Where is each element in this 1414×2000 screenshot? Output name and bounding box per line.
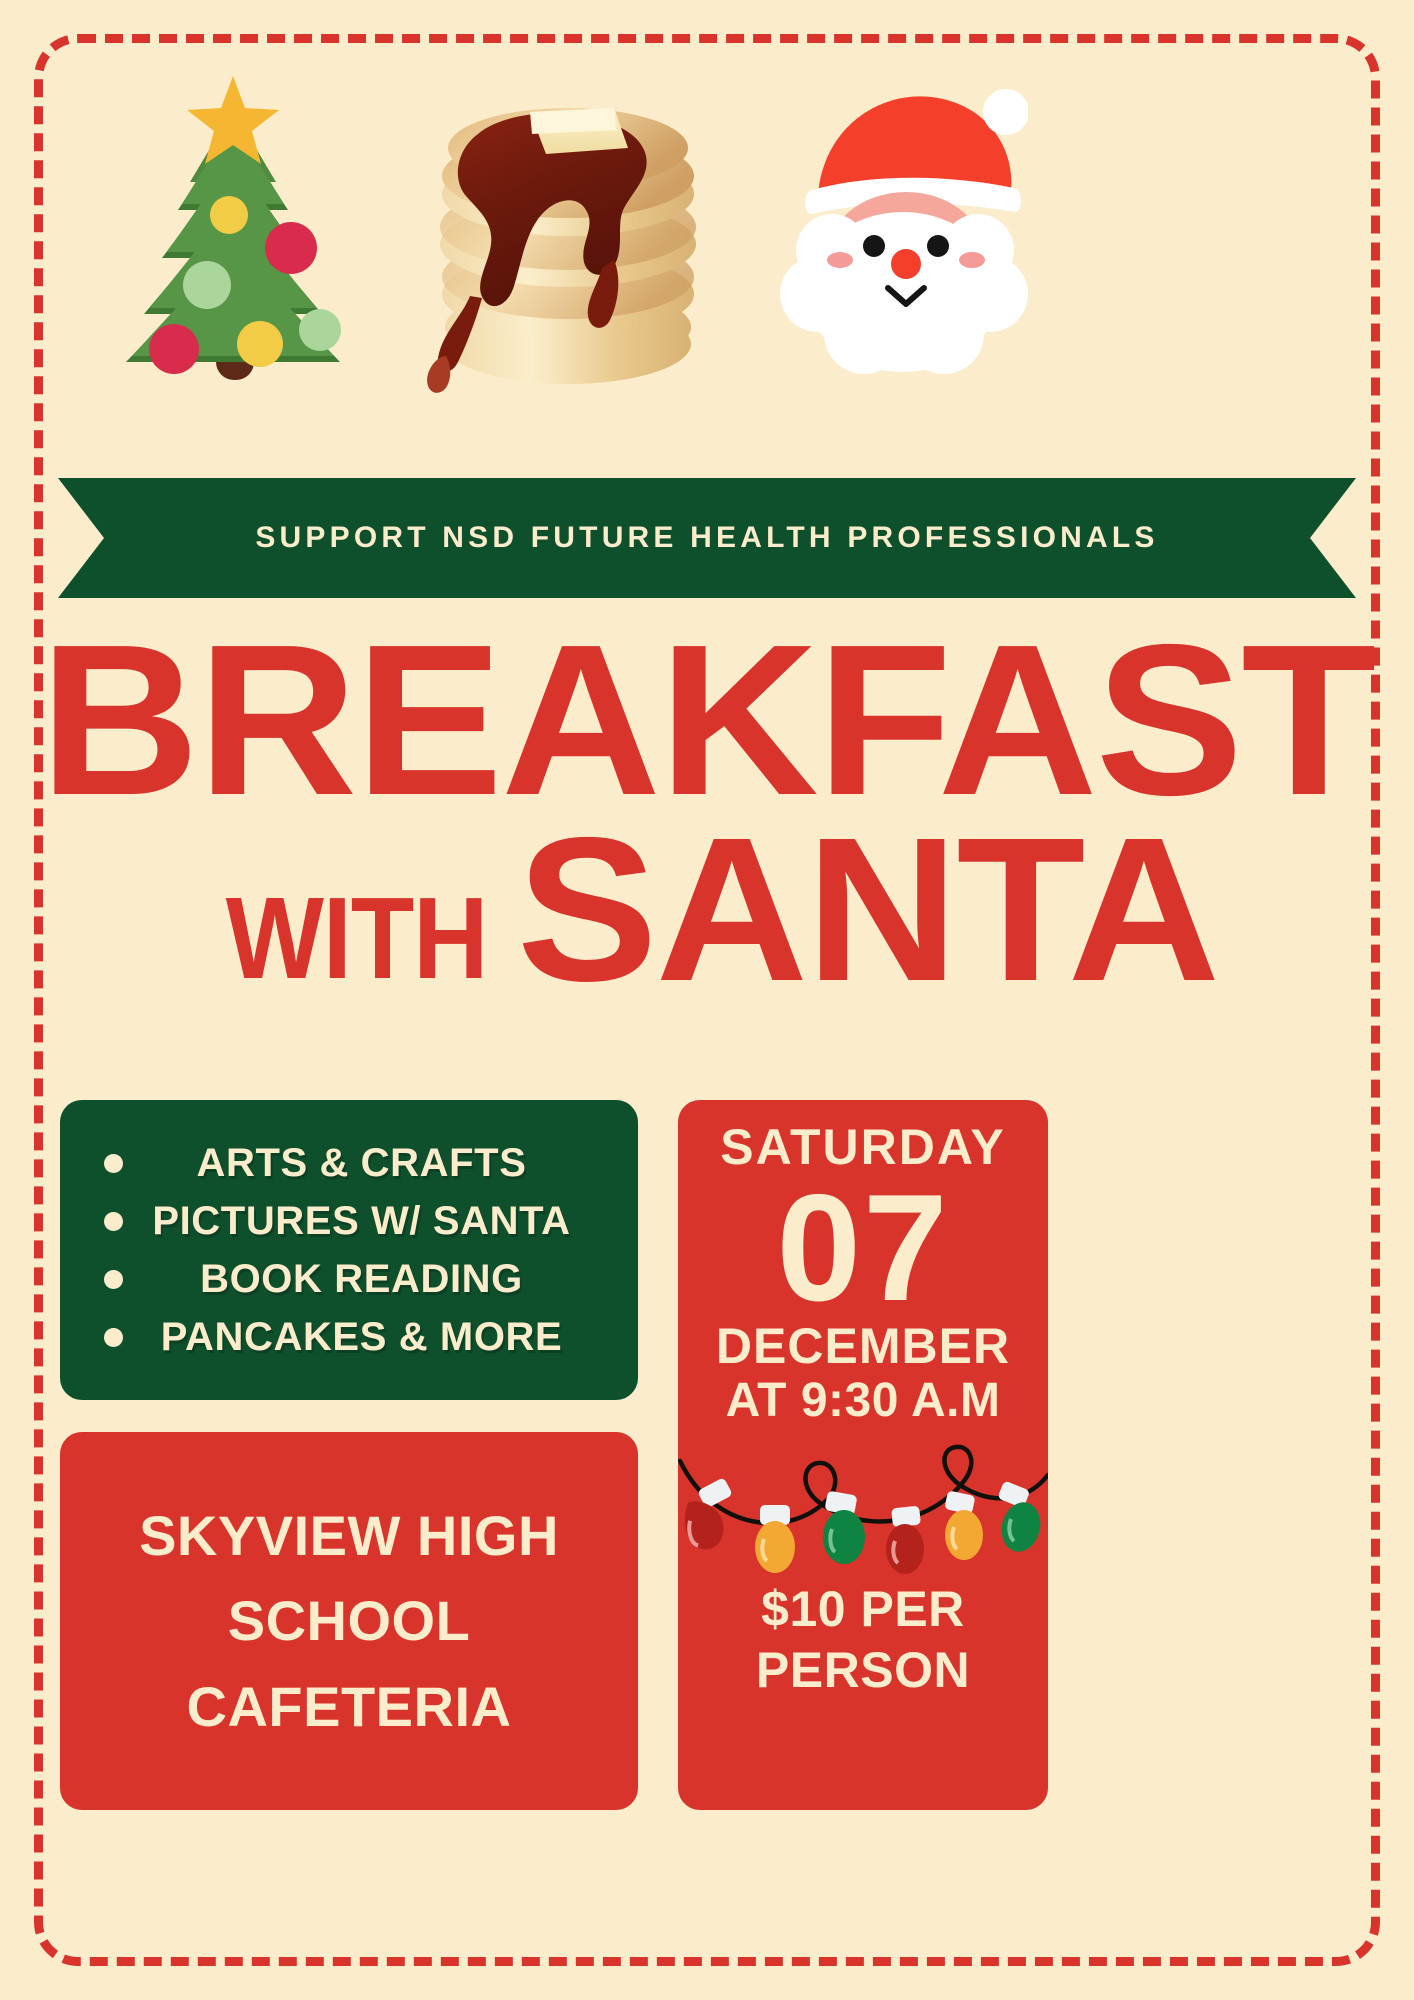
bullet-icon: [104, 1328, 123, 1347]
banner-text: SUPPORT NSD FUTURE HEALTH PROFESSIONALS: [58, 478, 1356, 598]
activity-label: PANCAKES & MORE: [123, 1315, 610, 1360]
headline-with-santa-row: WITH SANTA: [0, 818, 1414, 1003]
bullet-icon: [104, 1212, 123, 1231]
christmas-lights-decoration: [678, 1435, 1048, 1575]
venue-box: SKYVIEW HIGH SCHOOL CAFETERIA: [60, 1432, 638, 1810]
event-month: DECEMBER: [716, 1320, 1010, 1373]
bullet-icon: [104, 1270, 123, 1289]
pancake-stack-icon: [418, 72, 718, 412]
venue-line-2: SCHOOL: [228, 1578, 471, 1663]
top-artwork-row: [0, 52, 1414, 382]
date-details-box: SATURDAY 07 DECEMBER AT 9:30 A.M: [678, 1100, 1048, 1810]
christmas-tree-icon: [108, 62, 358, 392]
santa-face-icon: [778, 82, 1028, 382]
list-item: ARTS & CRAFTS: [82, 1134, 610, 1192]
venue-line-3: CAFETERIA: [187, 1664, 512, 1749]
support-banner: SUPPORT NSD FUTURE HEALTH PROFESSIONALS: [58, 478, 1356, 598]
activities-list-box: ARTS & CRAFTS PICTURES W/ SANTA BOOK REA…: [60, 1100, 638, 1400]
event-time: AT 9:30 A.M: [726, 1375, 1001, 1427]
price-line-2: PERSON: [756, 1642, 970, 1698]
list-item: PANCAKES & MORE: [82, 1308, 610, 1366]
activity-label: PICTURES W/ SANTA: [123, 1199, 610, 1244]
event-day-number: 07: [776, 1172, 949, 1324]
venue-line-1: SKYVIEW HIGH: [139, 1493, 559, 1578]
event-price: $10 PER PERSON: [756, 1579, 970, 1701]
activity-label: BOOK READING: [123, 1257, 610, 1302]
headline-breakfast: BREAKFAST: [0, 625, 1414, 814]
list-item: PICTURES W/ SANTA: [82, 1192, 610, 1250]
headline-santa: SANTA: [517, 818, 1218, 1003]
christmas-lights-icon: [678, 1435, 1048, 1575]
headline-block: BREAKFAST WITH SANTA: [0, 625, 1414, 1003]
poster-canvas: SUPPORT NSD FUTURE HEALTH PROFESSIONALS …: [0, 0, 1414, 2000]
activity-label: ARTS & CRAFTS: [123, 1141, 610, 1186]
list-item: BOOK READING: [82, 1250, 610, 1308]
headline-with: WITH: [226, 887, 488, 992]
bullet-icon: [104, 1154, 123, 1173]
price-line-1: $10 PER: [761, 1581, 965, 1637]
